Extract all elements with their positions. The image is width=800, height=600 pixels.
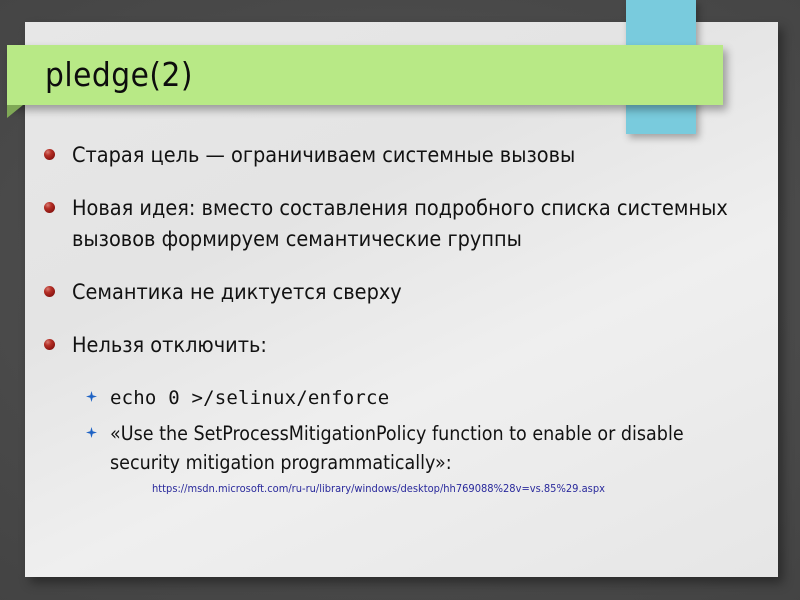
blue-star-bullet-icon — [86, 419, 110, 438]
red-sphere-bullet-icon — [44, 193, 72, 213]
bullet-text: Старая цель — ограничиваем системные выз… — [72, 140, 575, 171]
bullet-item: Семантика не диктуется сверху — [44, 277, 734, 308]
slide-body: Старая цель — ограничиваем системные выз… — [44, 140, 734, 497]
banner-fold-corner — [7, 105, 23, 118]
bullet-item: Нельзя отключить: — [44, 330, 734, 361]
red-sphere-bullet-icon — [44, 277, 72, 297]
code-text: echo 0 >/selinux/enforce — [110, 383, 389, 413]
source-url-link[interactable]: https://msdn.microsoft.com/ru-ru/library… — [152, 481, 734, 497]
red-sphere-bullet-icon — [44, 330, 72, 350]
bullet-text: Нельзя отключить: — [72, 330, 267, 361]
slide-title: pledge(2) — [45, 50, 193, 100]
sub-bullet-item: «Use the SetProcessMitigationPolicy func… — [86, 419, 734, 477]
bullet-item: Новая идея: вместо составления подробног… — [44, 193, 734, 255]
quote-text: «Use the SetProcessMitigationPolicy func… — [110, 419, 734, 477]
red-sphere-bullet-icon — [44, 140, 72, 160]
blue-star-bullet-icon — [86, 383, 110, 402]
sub-bullet-item: echo 0 >/selinux/enforce — [86, 383, 734, 413]
bullet-text: Новая идея: вместо составления подробног… — [72, 193, 734, 255]
bullet-text: Семантика не диктуется сверху — [72, 277, 402, 308]
bullet-item: Старая цель — ограничиваем системные выз… — [44, 140, 734, 171]
